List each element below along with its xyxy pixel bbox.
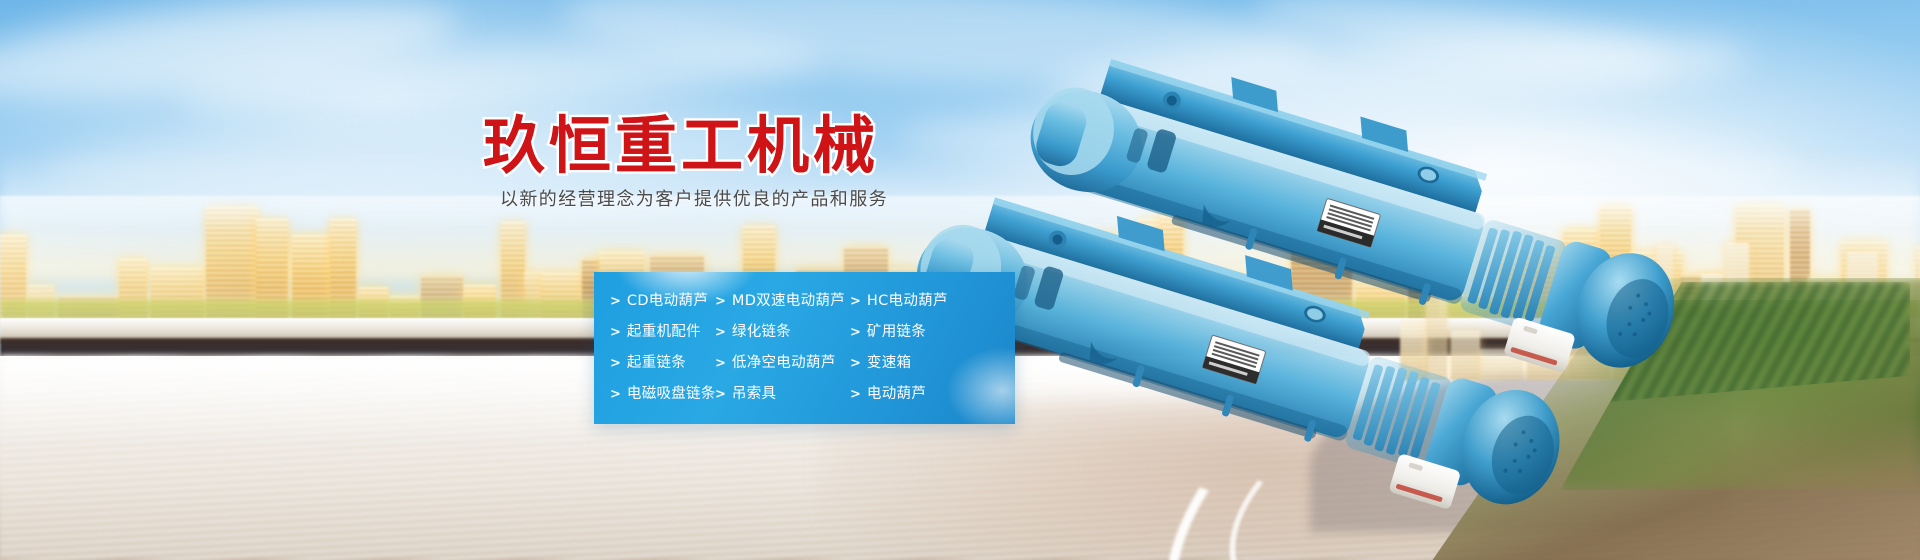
product-links-grid: >CD电动葫芦>MD双速电动葫芦>HC电动葫芦>起重机配件>绿化链条>矿用链条>… — [594, 272, 1015, 424]
product-link-label: 低净空电动葫芦 — [732, 356, 836, 371]
product-link[interactable]: >起重机配件 — [610, 325, 715, 340]
right-skyline-building — [1400, 324, 1427, 380]
chevron-right-icon: > — [715, 295, 726, 308]
chevron-right-icon: > — [715, 326, 726, 339]
product-link[interactable]: >HC电动葫芦 — [850, 294, 1015, 309]
product-link[interactable]: >矿用链条 — [850, 325, 1015, 340]
chevron-right-icon: > — [610, 388, 621, 401]
product-link-label: 吊索具 — [732, 387, 776, 402]
product-link[interactable]: >变速箱 — [850, 356, 1015, 371]
product-link[interactable]: >低净空电动葫芦 — [715, 356, 850, 371]
right-skyline-building — [1527, 333, 1567, 380]
chevron-right-icon: > — [850, 326, 861, 339]
chevron-right-icon: > — [850, 295, 861, 308]
product-link-label: 电动葫芦 — [867, 387, 926, 402]
hero-banner: 玖恒重工机械 玖恒重工机械 以新的经营理念为客户提供优良的产品和服务 >CD电动… — [0, 0, 1920, 560]
product-link[interactable]: >CD电动葫芦 — [610, 294, 715, 309]
product-link[interactable]: >电磁吸盘链条 — [610, 387, 715, 402]
product-link-label: 矿用链条 — [867, 325, 926, 340]
chevron-right-icon: > — [850, 357, 861, 370]
right-skyline-building — [1451, 331, 1480, 380]
product-link-label: 起重链条 — [627, 356, 686, 371]
chevron-right-icon: > — [715, 357, 726, 370]
product-link-label: 起重机配件 — [627, 325, 701, 340]
right-skyline-building — [1426, 271, 1447, 380]
product-links-panel: >CD电动葫芦>MD双速电动葫芦>HC电动葫芦>起重机配件>绿化链条>矿用链条>… — [594, 272, 1015, 424]
chevron-right-icon: > — [610, 326, 621, 339]
product-link-label: 变速箱 — [867, 356, 911, 371]
product-link-label: 绿化链条 — [732, 325, 791, 340]
product-link[interactable]: >吊索具 — [715, 387, 850, 402]
product-link-label: HC电动葫芦 — [867, 294, 948, 309]
chevron-right-icon: > — [610, 357, 621, 370]
product-link[interactable]: >MD双速电动葫芦 — [715, 294, 850, 309]
chevron-right-icon: > — [610, 295, 621, 308]
page-subtitle: 以新的经营理念为客户提供优良的产品和服务 — [500, 185, 888, 211]
product-link[interactable]: >绿化链条 — [715, 325, 850, 340]
product-link-label: CD电动葫芦 — [627, 294, 708, 309]
right-skyline-building — [1480, 349, 1523, 380]
page-title: 玖恒重工机械 — [483, 115, 879, 177]
chevron-right-icon: > — [715, 388, 726, 401]
product-link[interactable]: >电动葫芦 — [850, 387, 1015, 402]
product-link[interactable]: >起重链条 — [610, 356, 715, 371]
product-link-label: 电磁吸盘链条 — [627, 387, 716, 402]
chevron-right-icon: > — [850, 388, 861, 401]
product-link-label: MD双速电动葫芦 — [732, 294, 845, 309]
